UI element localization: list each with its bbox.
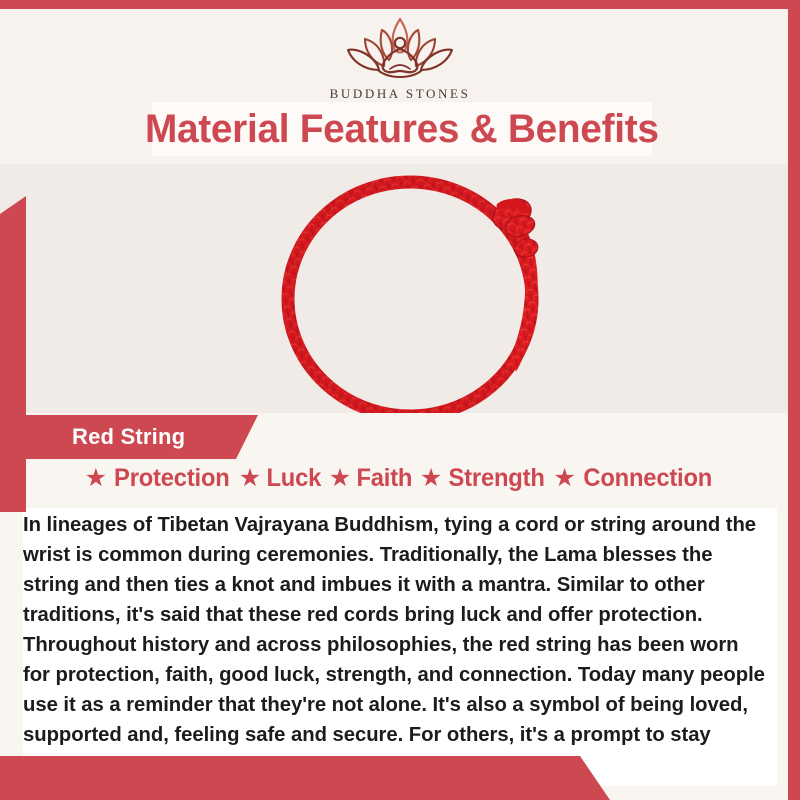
feature-item-protection: ★ Protection	[85, 464, 233, 493]
star-icon: ★	[553, 466, 575, 491]
star-icon: ★	[85, 466, 107, 491]
frame-right-border	[788, 0, 800, 800]
feature-list: ★ Protection ★ Luck ★ Faith ★ Strength ★…	[0, 464, 800, 493]
frame-bottom-accent-bar	[0, 756, 610, 800]
page-title: Material Features & Benefits	[145, 107, 659, 152]
description-block: In lineages of Tibetan Vajrayana Buddhis…	[23, 508, 777, 786]
material-label-text: Red String	[72, 424, 185, 450]
feature-label-luck: Luck	[267, 464, 322, 493]
feature-item-strength: ★ Strength	[420, 464, 548, 493]
feature-item-faith: ★ Faith	[329, 464, 414, 493]
brand-logo-block: BUDDHA STONES	[0, 13, 800, 102]
product-image-zone	[0, 164, 800, 413]
star-icon: ★	[420, 466, 442, 491]
feature-label-faith: Faith	[357, 464, 413, 493]
lotus-meditation-icon	[334, 13, 466, 85]
star-icon: ★	[239, 466, 261, 491]
feature-label-protection: Protection	[114, 464, 230, 493]
material-label-banner: Red String	[0, 415, 258, 459]
frame-top-border	[0, 0, 800, 9]
red-string-bracelet-image	[268, 164, 558, 413]
brand-wordmark: BUDDHA STONES	[330, 86, 471, 102]
feature-label-strength: Strength	[449, 464, 545, 493]
star-icon: ★	[329, 466, 351, 491]
feature-item-luck: ★ Luck	[239, 464, 323, 493]
title-banner: Material Features & Benefits	[152, 102, 652, 156]
feature-item-connection: ★ Connection	[553, 464, 715, 493]
frame-left-accent-bar	[0, 196, 26, 512]
description-paragraph: In lineages of Tibetan Vajrayana Buddhis…	[23, 510, 766, 780]
infographic-card: BUDDHA STONES Material Features & Benefi…	[0, 0, 800, 800]
feature-label-connection: Connection	[583, 464, 712, 493]
